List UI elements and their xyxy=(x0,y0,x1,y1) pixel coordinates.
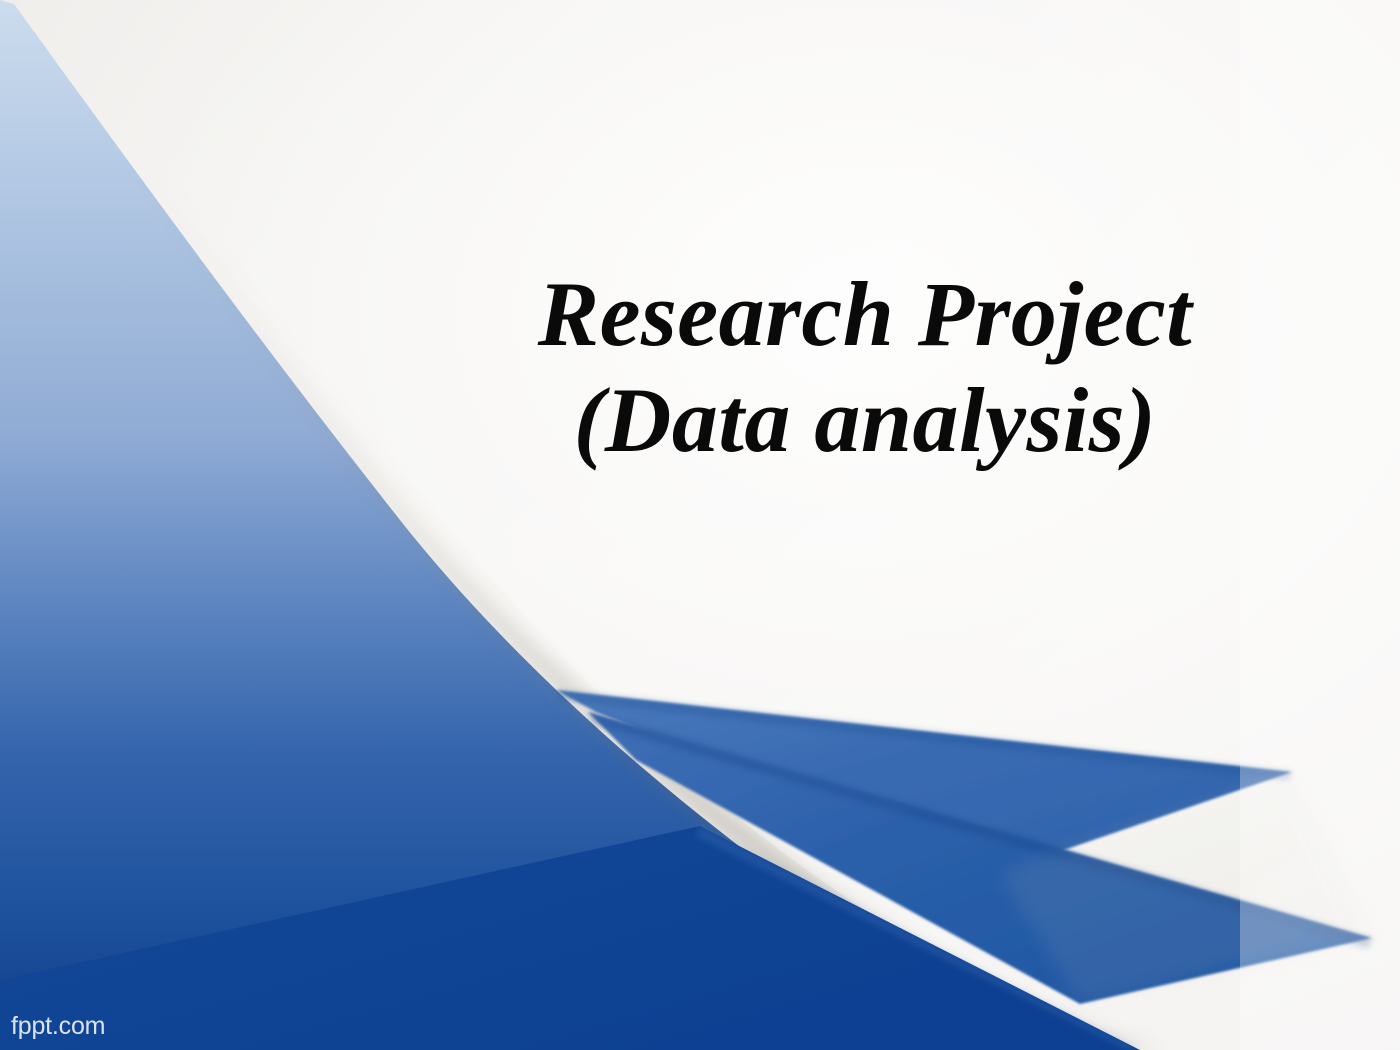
title-line-1: Research Project xyxy=(470,262,1260,368)
title-line-2: (Data analysis) xyxy=(470,368,1260,474)
right-vignette xyxy=(1240,0,1400,1050)
slide-background-artwork xyxy=(0,0,1400,1050)
slide-title: Research Project (Data analysis) xyxy=(470,262,1260,474)
fppt-watermark: fppt.com xyxy=(11,1012,105,1041)
presentation-slide: Research Project (Data analysis) fppt.co… xyxy=(0,0,1400,1050)
